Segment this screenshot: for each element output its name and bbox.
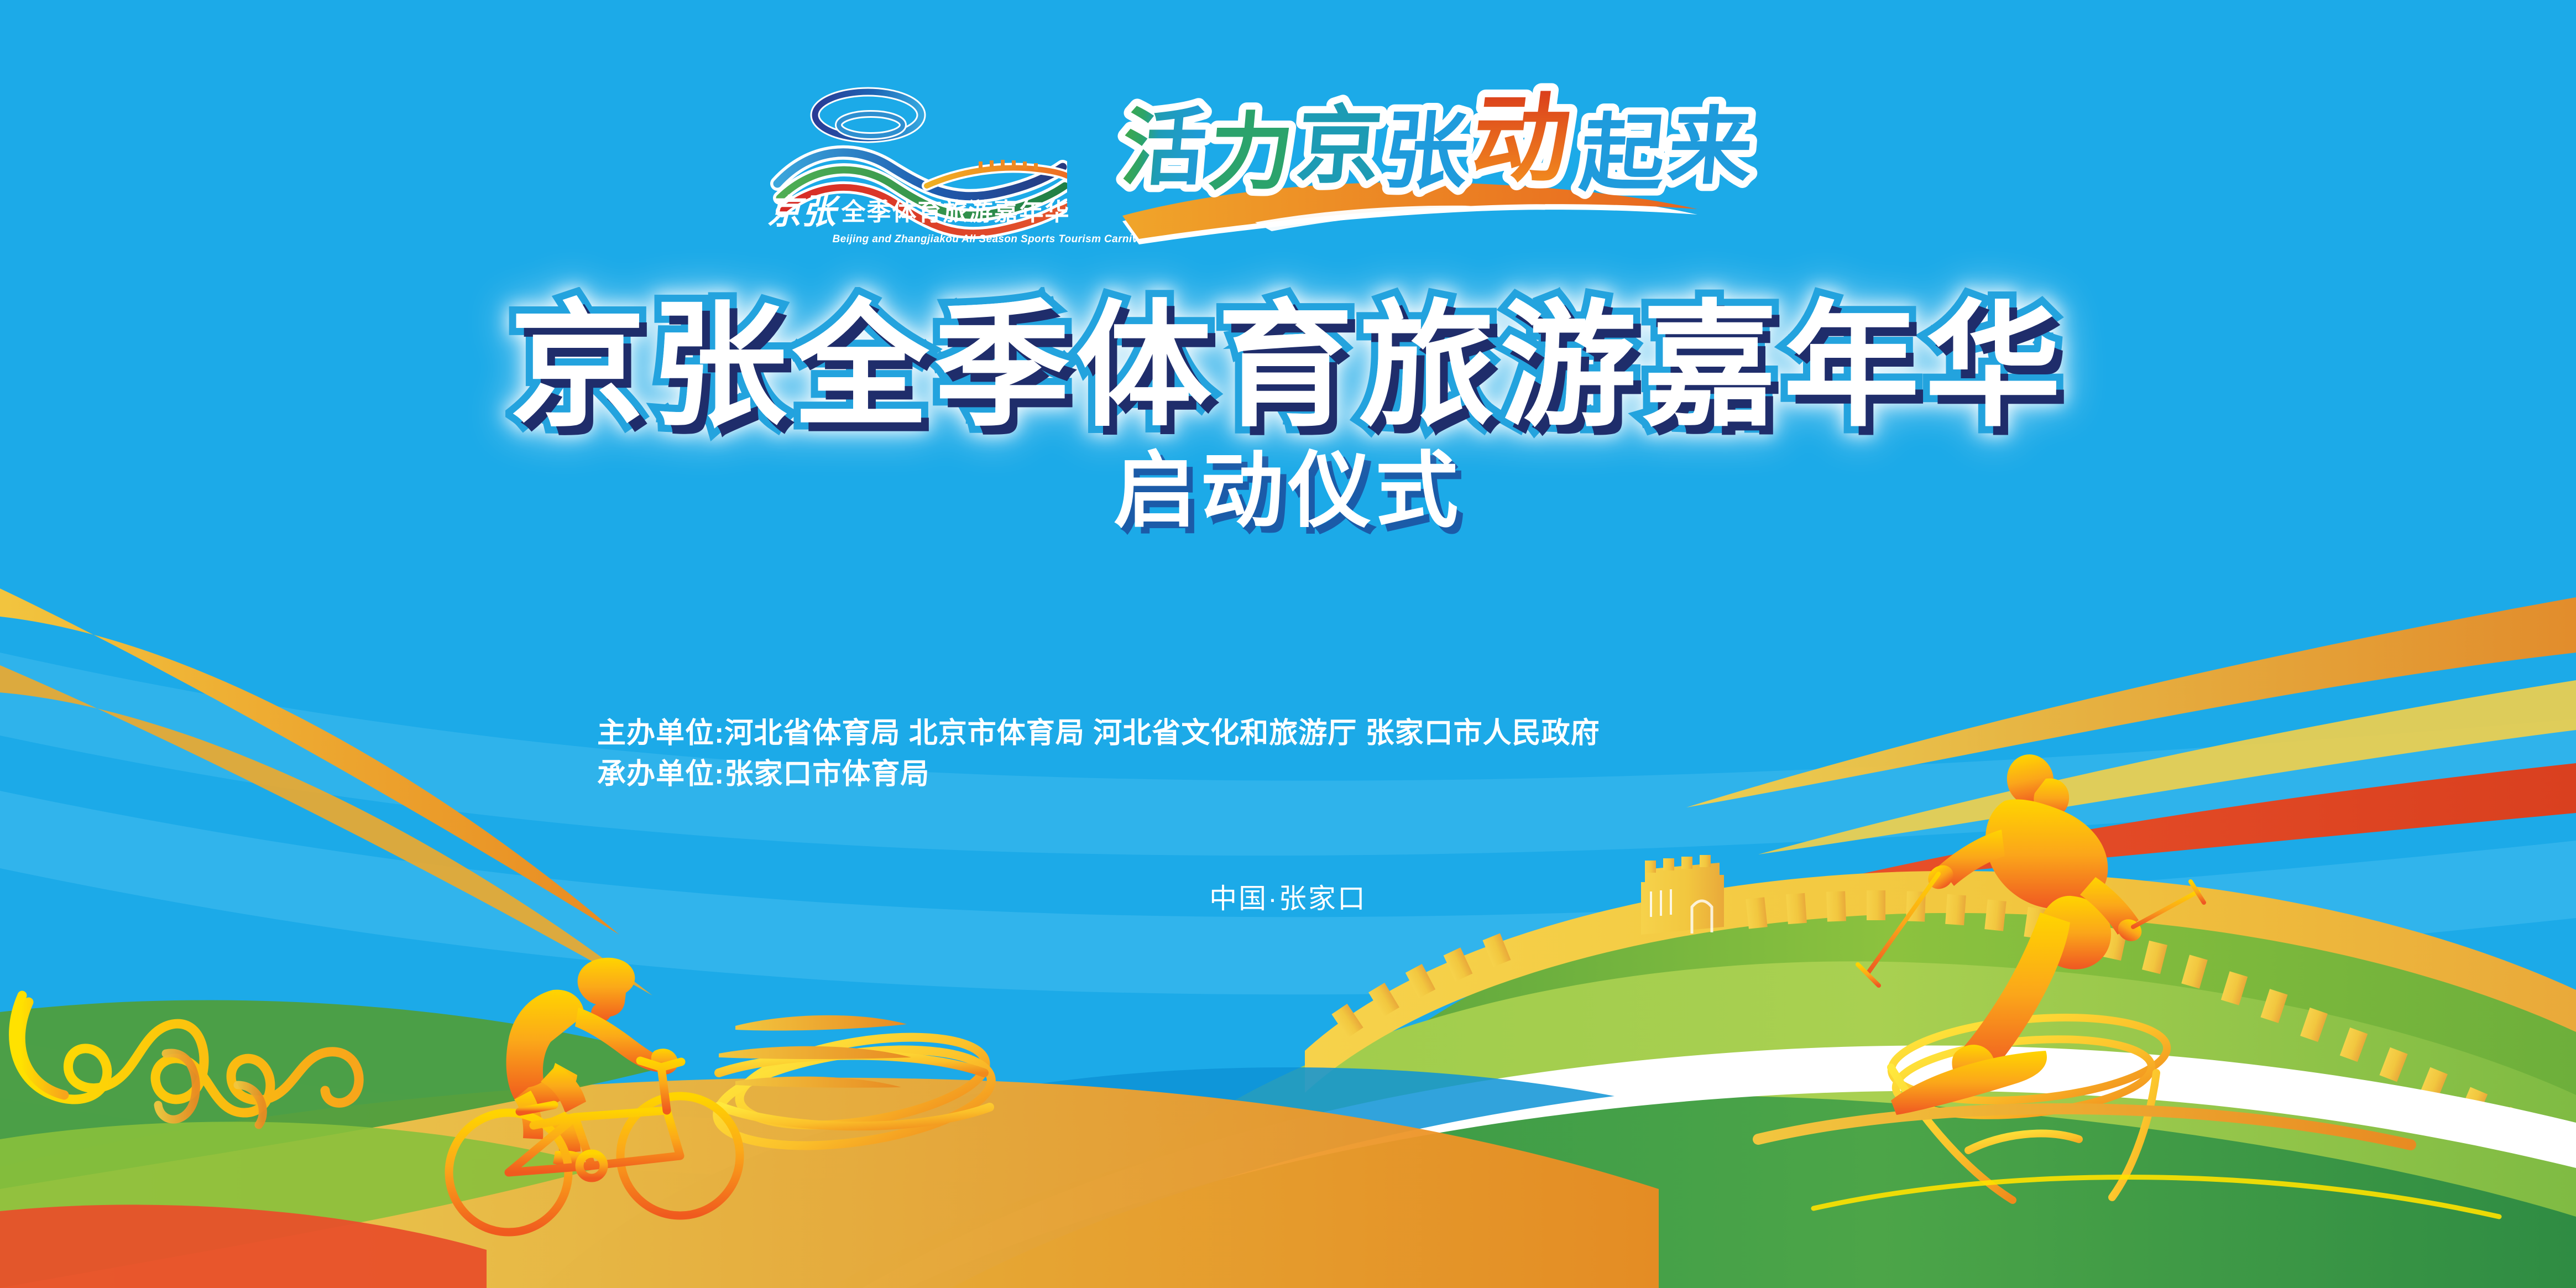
background-artwork [0,0,2576,1288]
poster-canvas: 京张全季体育旅游嘉年华 Beijing and Zhangjiakou All … [0,0,2576,1288]
great-wall-watchtower [1641,855,1724,935]
